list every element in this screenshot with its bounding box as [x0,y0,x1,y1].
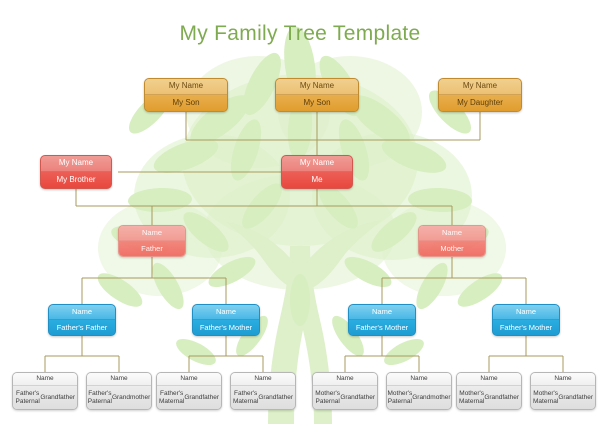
node-role-line1: Mother's Maternal [459,390,484,406]
node-great-grandparent-3[interactable]: Name Father's Maternal Grandfather [156,372,222,410]
node-role: Father's Maternal Grandfather [157,386,221,409]
node-role-line1: Mother's Paternal [315,390,340,406]
node-great-grandparent-5[interactable]: Name Mother's Paternal Grandfather [312,372,378,410]
node-role: Father's Maternal Grandfather [231,386,295,409]
node-child-2[interactable]: My Name My Son [275,78,359,112]
node-role-line2: Grandmother [412,394,450,402]
node-name: My Name [41,156,111,172]
node-grandparent-2[interactable]: Name Father's Mother [192,304,260,336]
node-role-line1: Father's Paternal [88,390,112,406]
node-role: My Brother [41,172,111,189]
node-father[interactable]: Name Father [118,225,186,257]
node-role-line2: Grandfather [40,394,75,402]
node-grandparent-3[interactable]: Name Father's Mother [348,304,416,336]
node-name: My Name [145,79,227,95]
node-role: Mother's Maternal Grandfather [457,386,521,409]
node-name: Name [87,373,151,386]
node-role: Father [119,241,185,257]
node-name: Name [157,373,221,386]
node-great-grandparent-8[interactable]: Name Mother's Maternal Grandfather [530,372,596,410]
node-role-line1: Father's Maternal [159,390,184,406]
node-grandparent-1[interactable]: Name Father's Father [48,304,116,336]
node-role-line2: Grandfather [340,394,375,402]
node-role: My Daughter [439,95,521,112]
node-role-line1: Father's Paternal [15,390,40,406]
node-name: Name [349,305,415,320]
node-role-line1: Father's Maternal [233,390,258,406]
node-role: Mother [419,241,485,257]
node-name: Name [13,373,77,386]
node-child-3[interactable]: My Name My Daughter [438,78,522,112]
node-name: My Name [439,79,521,95]
node-great-grandparent-7[interactable]: Name Mother's Maternal Grandfather [456,372,522,410]
node-role: My Son [276,95,358,112]
node-grandparent-4[interactable]: Name Father's Mother [492,304,560,336]
node-role: Father's Mother [493,320,559,336]
node-great-grandparent-6[interactable]: Name Mother's Paternal Grandmother [386,372,452,410]
node-role: Me [282,172,352,189]
page-title: My Family Tree Template [0,22,600,46]
node-role-line1: Mother's Paternal [387,390,412,406]
node-name: Name [387,373,451,386]
node-name: Name [49,305,115,320]
node-name: Name [457,373,521,386]
node-name: Name [231,373,295,386]
node-great-grandparent-2[interactable]: Name Father's Paternal Grandmother [86,372,152,410]
node-mother[interactable]: Name Mother [418,225,486,257]
node-role: Father's Mother [349,320,415,336]
node-name: Name [119,226,185,241]
node-role-line2: Grandfather [184,394,219,402]
node-great-grandparent-4[interactable]: Name Father's Maternal Grandfather [230,372,296,410]
node-role: Father's Father [49,320,115,336]
node-role-line1: Mother's Maternal [533,390,558,406]
node-name: Name [193,305,259,320]
node-role-line2: Grandfather [558,394,593,402]
node-role: Mother's Maternal Grandfather [531,386,595,409]
connector-lines [0,0,600,424]
node-role-line2: Grandfather [484,394,519,402]
node-name: My Name [282,156,352,172]
node-role: Mother's Paternal Grandfather [313,386,377,409]
node-role: Mother's Paternal Grandmother [387,386,451,409]
node-role-line2: Grandmother [112,394,150,402]
node-role: Father's Paternal Grandmother [87,386,151,409]
node-name: Name [531,373,595,386]
node-my-brother[interactable]: My Name My Brother [40,155,112,189]
node-role: Father's Paternal Grandfather [13,386,77,409]
node-child-1[interactable]: My Name My Son [144,78,228,112]
node-name: My Name [276,79,358,95]
node-great-grandparent-1[interactable]: Name Father's Paternal Grandfather [12,372,78,410]
node-name: Name [419,226,485,241]
node-role: Father's Mother [193,320,259,336]
node-me[interactable]: My Name Me [281,155,353,189]
node-role: My Son [145,95,227,112]
node-name: Name [313,373,377,386]
node-role-line2: Grandfather [258,394,293,402]
node-name: Name [493,305,559,320]
family-tree-canvas: My Family Tree Template My Name My Son M… [0,0,600,424]
